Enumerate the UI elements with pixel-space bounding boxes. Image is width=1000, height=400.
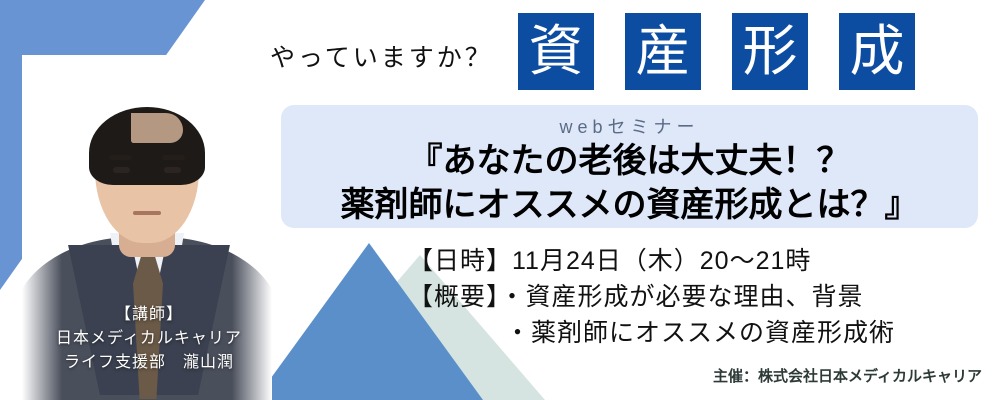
- kanji-box-2: 産: [625, 13, 701, 90]
- lecturer-caption: 【講師】 日本メディカルキャリア ライフ支援部 瀧山潤: [8, 303, 290, 375]
- kanji-box-1: 資: [518, 13, 594, 90]
- seminar-title-line1: 『あなたの老後は大丈夫！？: [281, 139, 978, 183]
- detail-outline-item-1: 【概要】・資産形成が必要な理由、背景: [408, 279, 895, 315]
- detail-datetime: 【日時】11月24日（木）20〜21時: [408, 243, 895, 279]
- organizer-label: 主催：株式会社日本メディカルキャリア: [713, 365, 982, 386]
- kanji-headline-row: 資 産 形 成: [518, 13, 915, 90]
- kanji-box-4: 成: [839, 13, 915, 90]
- detail-outline-item-2: ・薬剤師にオススメの資産形成術: [408, 315, 895, 351]
- seminar-title-line2: 薬剤師にオススメの資産形成とは？』: [281, 183, 978, 227]
- title-panel: webセミナー 『あなたの老後は大丈夫！？ 薬剤師にオススメの資産形成とは？』: [281, 105, 978, 228]
- lecturer-name: ライフ支援部 瀧山潤: [8, 351, 290, 375]
- tagline: やっていますか？: [270, 38, 493, 74]
- lecturer-label: 【講師】: [8, 303, 290, 327]
- kanji-box-3: 形: [732, 13, 808, 90]
- webinar-banner: 【講師】 日本メディカルキャリア ライフ支援部 瀧山潤 やっていますか？ 資 産…: [0, 0, 1000, 400]
- seminar-details: 【日時】11月24日（木）20〜21時 【概要】・資産形成が必要な理由、背景 ・…: [408, 243, 895, 351]
- lecturer-company: 日本メディカルキャリア: [8, 327, 290, 351]
- seminar-type-label: webセミナー: [281, 115, 978, 139]
